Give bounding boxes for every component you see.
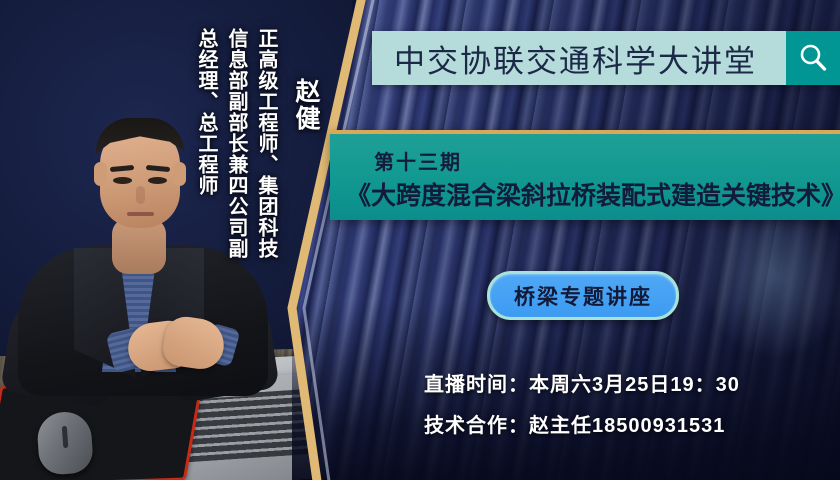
speaker-ear-left — [94, 162, 107, 186]
broadcast-time: 直播时间：本周六3月25日19：30 — [424, 368, 740, 397]
speaker-title-line-1: 正高级工程师、集团科技 — [252, 28, 281, 259]
topic-button[interactable]: 桥梁专题讲座 — [487, 271, 679, 320]
speaker-name: 赵健 — [288, 78, 324, 132]
program-title-bar: 中交协联交通科学大讲堂 — [372, 31, 840, 85]
program-title: 中交协联交通科学大讲堂 — [372, 31, 786, 85]
speaker-ear-right — [173, 162, 186, 186]
speaker-eye-left — [113, 177, 132, 184]
speaker-photo — [0, 0, 352, 480]
live-stream-poster: 赵健 正高级工程师、集团科技 信息部副部长兼四公司副 总经理、总工程师 中交协联… — [0, 0, 840, 480]
episode-number: 第十三期 — [374, 146, 462, 175]
speaker-eye-right — [148, 177, 167, 184]
search-button[interactable] — [786, 31, 840, 85]
speaker-mouth — [127, 212, 154, 216]
technical-contact: 技术合作：赵主任18500931531 — [424, 409, 725, 438]
speaker-nose — [136, 186, 145, 204]
episode-title: 《大跨度混合梁斜拉桥装配式建造关键技术》 — [346, 176, 840, 212]
speaker-title-line-3: 总经理、总工程师 — [192, 28, 221, 196]
search-icon — [796, 41, 830, 75]
speaker-title-line-2: 信息部副部长兼四公司副 — [222, 28, 251, 259]
episode-banner: 第十三期 《大跨度混合梁斜拉桥装配式建造关键技术》 — [330, 130, 840, 220]
